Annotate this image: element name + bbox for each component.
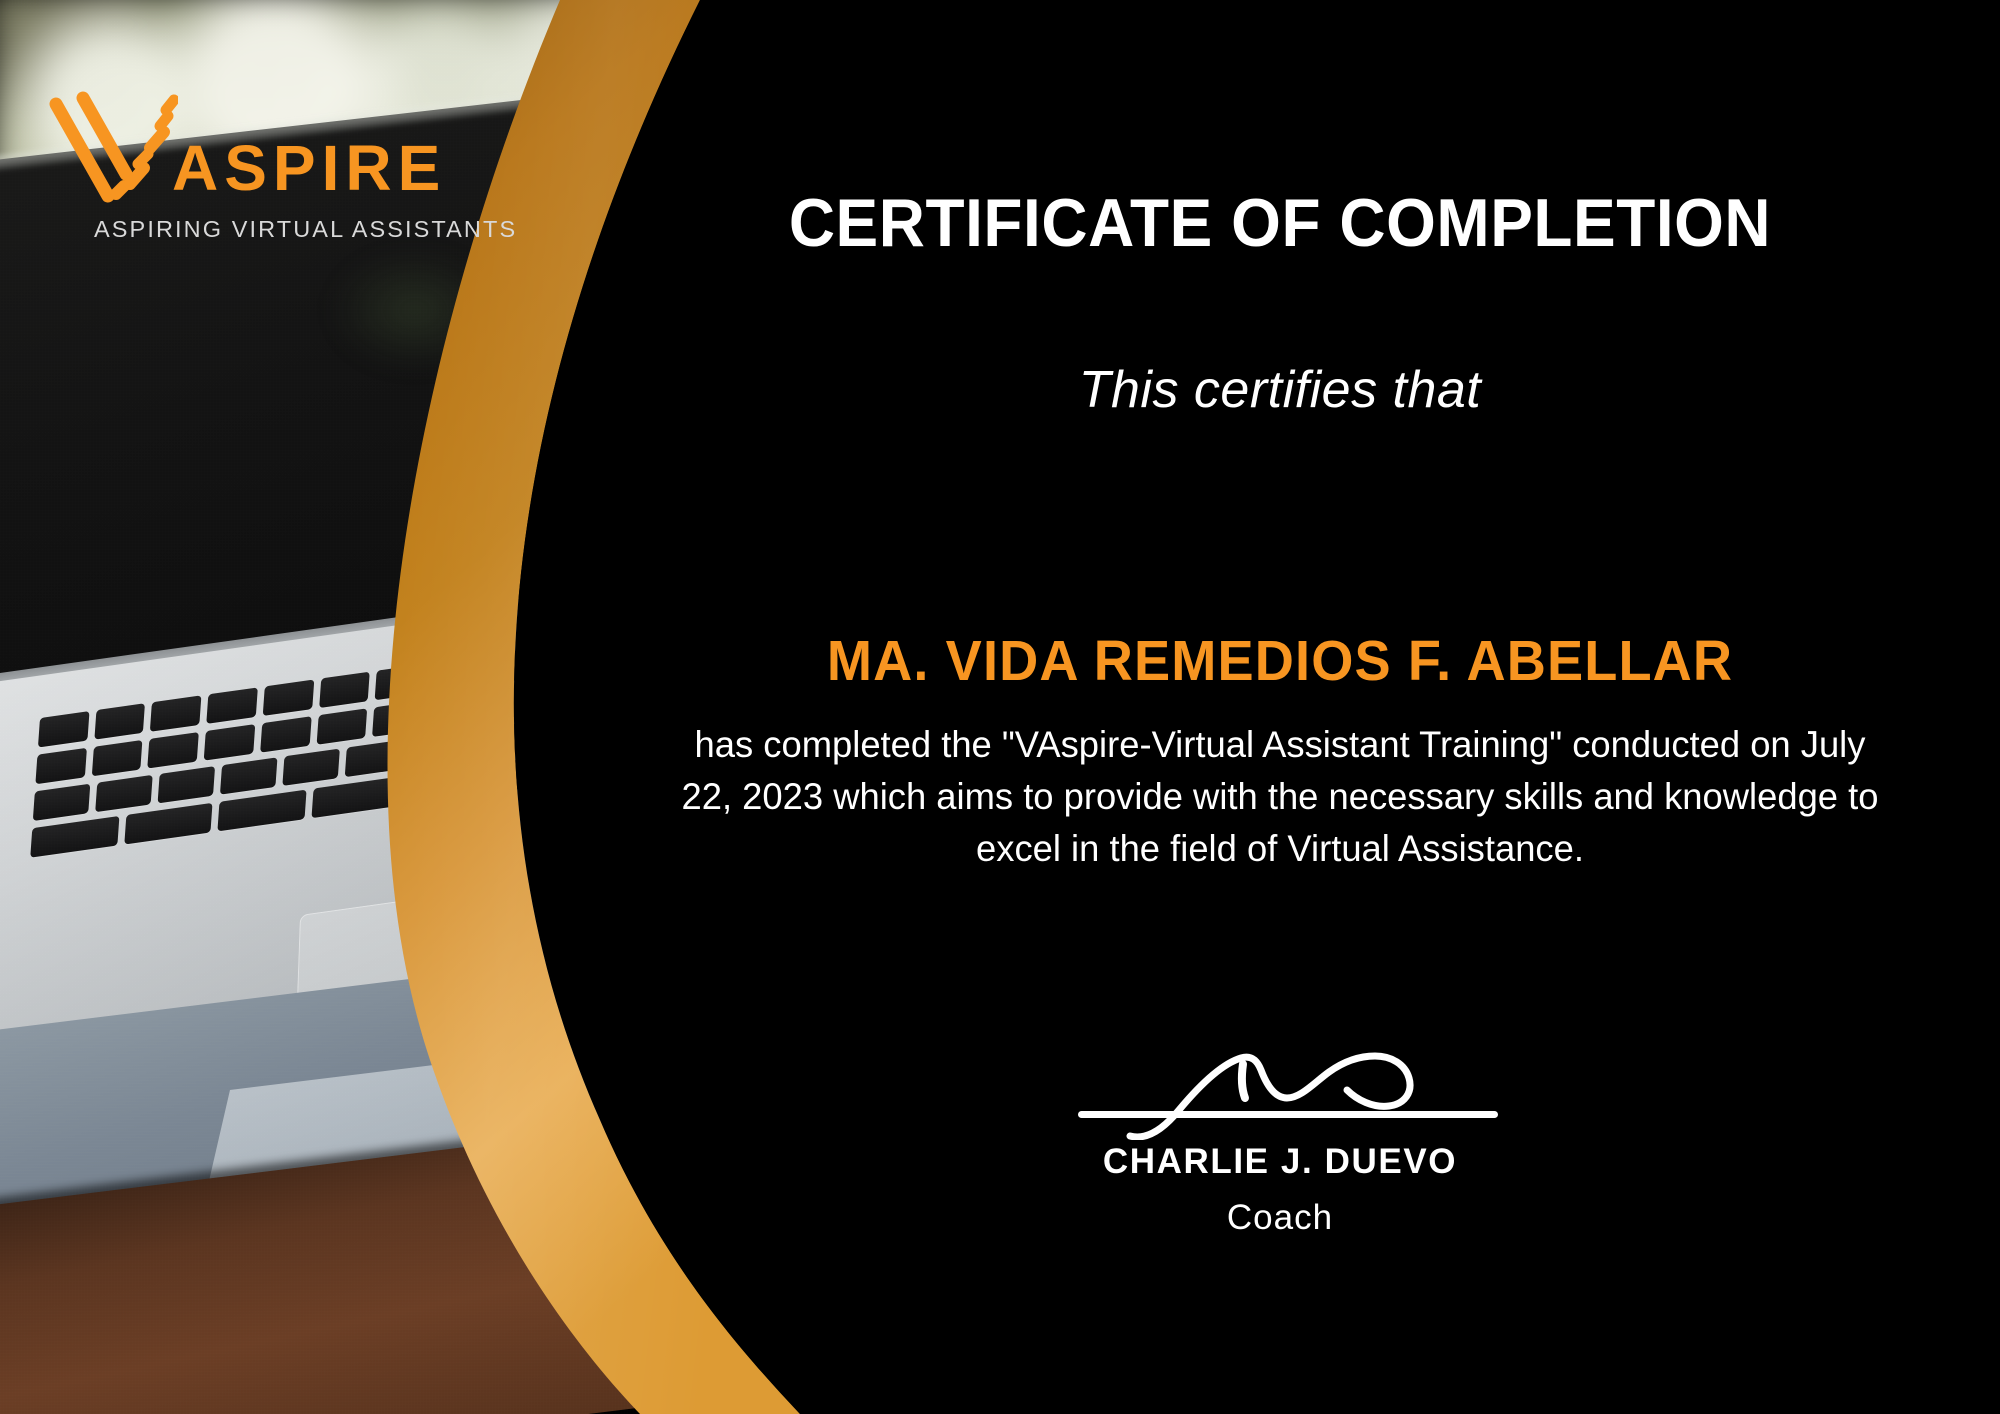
signature-block: CHARLIE J. DUEVO Coach bbox=[620, 1048, 1940, 1238]
signature-role: Coach bbox=[1227, 1198, 1333, 1238]
signature-name: CHARLIE J. DUEVO bbox=[1103, 1142, 1457, 1182]
vaspire-logo: ASPIRE ASPIRING VIRTUAL ASSISTANTS bbox=[38, 86, 468, 243]
signature-rule-line bbox=[1078, 1111, 1498, 1118]
certificate-content: CERTIFICATE OF COMPLETION This certifies… bbox=[620, 0, 1940, 1414]
logo-mark-row: ASPIRE bbox=[38, 86, 468, 204]
recipient-name: MA. VIDA REMEDIOS F. ABELLAR bbox=[653, 628, 1907, 694]
certifies-line: This certifies that bbox=[620, 360, 1940, 420]
logo-wordmark: ASPIRE bbox=[172, 136, 446, 200]
logo-tagline: ASPIRING VIRTUAL ASSISTANTS bbox=[94, 216, 468, 243]
certificate-canvas: ASPIRE ASPIRING VIRTUAL ASSISTANTS CERTI… bbox=[0, 0, 2000, 1414]
signature-area bbox=[1065, 1048, 1495, 1140]
certificate-title: CERTIFICATE OF COMPLETION bbox=[660, 184, 1901, 262]
handwritten-signature-icon bbox=[1075, 1048, 1495, 1140]
vaspire-v-mark-icon bbox=[38, 86, 178, 204]
certificate-body-text: has completed the "VAspire-Virtual Assis… bbox=[640, 718, 1920, 874]
